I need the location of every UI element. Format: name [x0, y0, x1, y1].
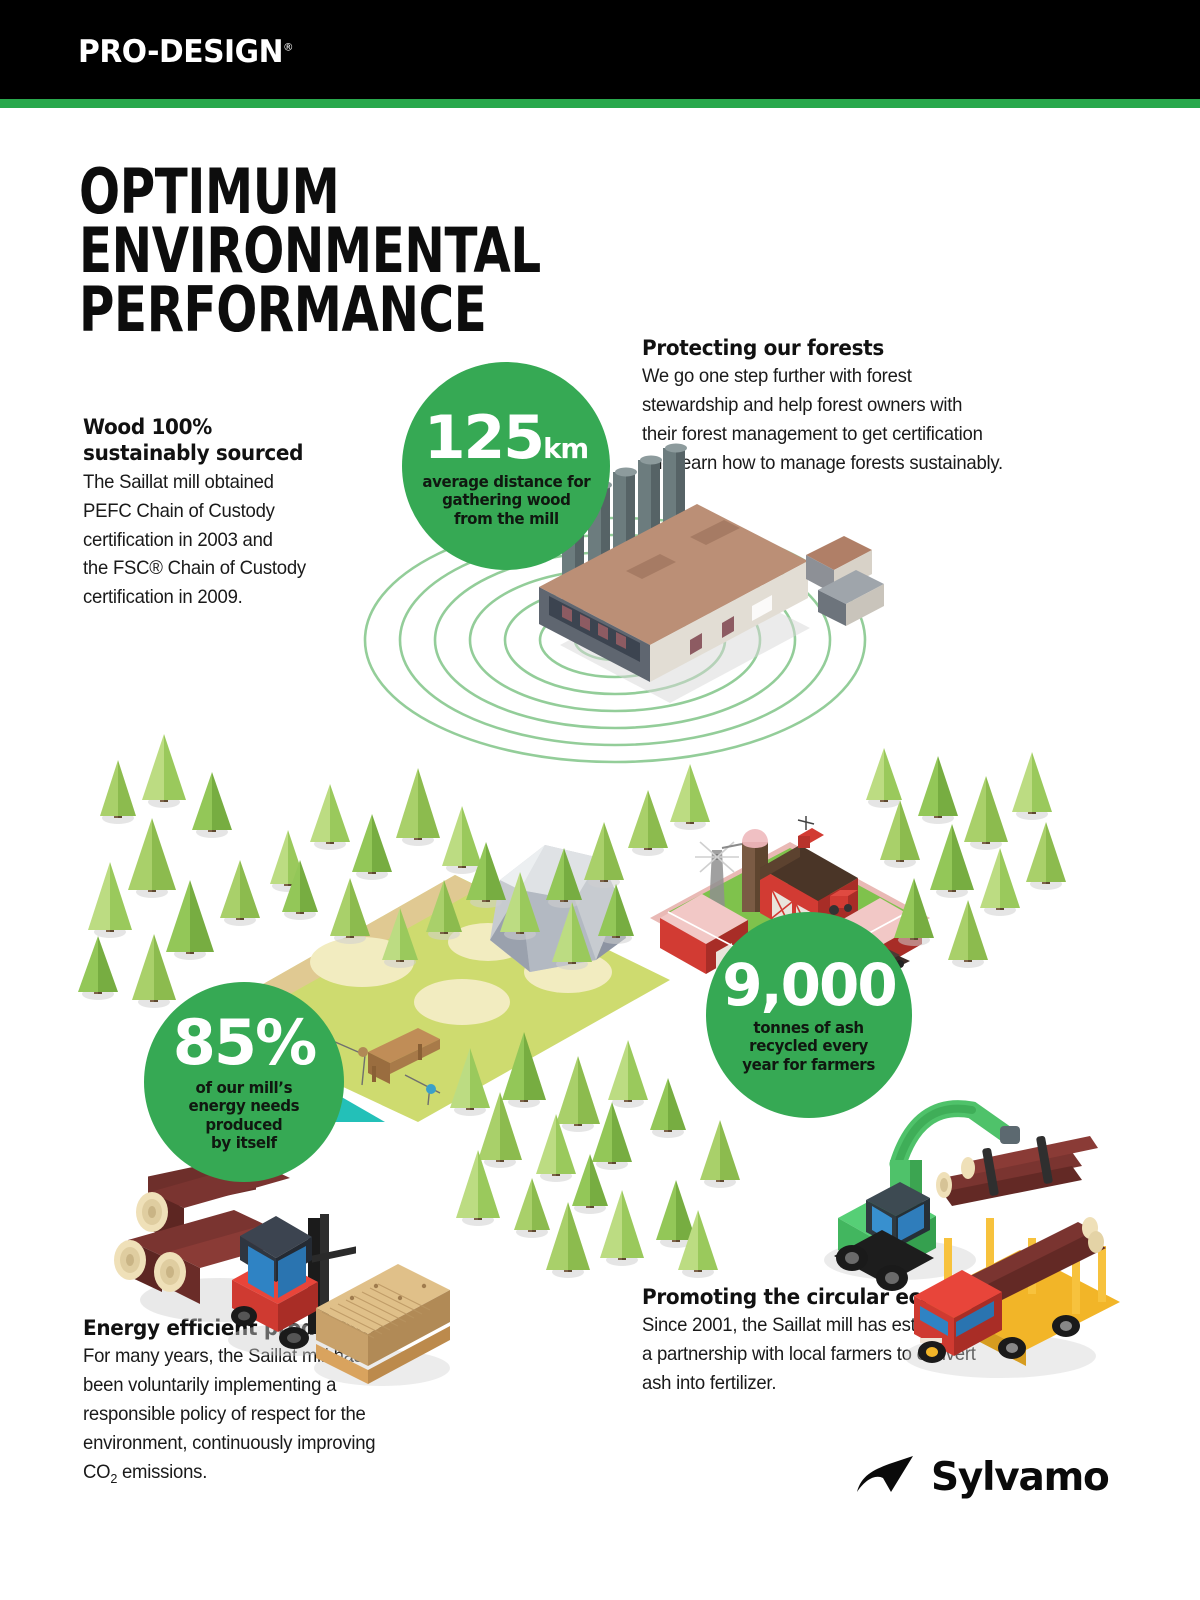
sylvamo-logo: Sylvamo	[855, 1455, 1109, 1500]
stat-circle-energy: 85% of our mill’s energy needs produced …	[144, 982, 344, 1182]
stat-circle-ash: 9,000 tonnes of ash recycled every year …	[706, 912, 912, 1118]
sylvamo-wordmark: Sylvamo	[931, 1455, 1109, 1500]
stat-caption-energy: of our mill’s energy needs produced by i…	[189, 1079, 300, 1153]
brand-trademark-symbol: ®	[283, 41, 293, 54]
stat-caption-ash: tonnes of ash recycled every year for fa…	[743, 1019, 876, 1074]
forklift-scene	[114, 1154, 450, 1386]
infographic-illustration	[0, 100, 1200, 1520]
sylvamo-mark-icon	[855, 1456, 917, 1500]
stat-circle-distance: 125km average distance for gathering woo…	[402, 362, 610, 570]
stat-value-distance: 125km	[424, 408, 588, 468]
lumber-pallet	[314, 1264, 450, 1386]
gripped-logs	[936, 1135, 1098, 1206]
logging-truck	[904, 1217, 1120, 1378]
stat-value-ash: 9,000	[722, 956, 895, 1014]
brand-logo: PRO-DESIGN®	[78, 34, 293, 70]
logging-scene	[824, 1109, 1120, 1378]
stat-caption-distance: average distance for gathering wood from…	[422, 473, 590, 528]
brand-logo-text: PRO-DESIGN	[78, 34, 283, 70]
stat-unit-distance: km	[543, 432, 588, 465]
stat-value-energy: 85%	[173, 1012, 315, 1074]
